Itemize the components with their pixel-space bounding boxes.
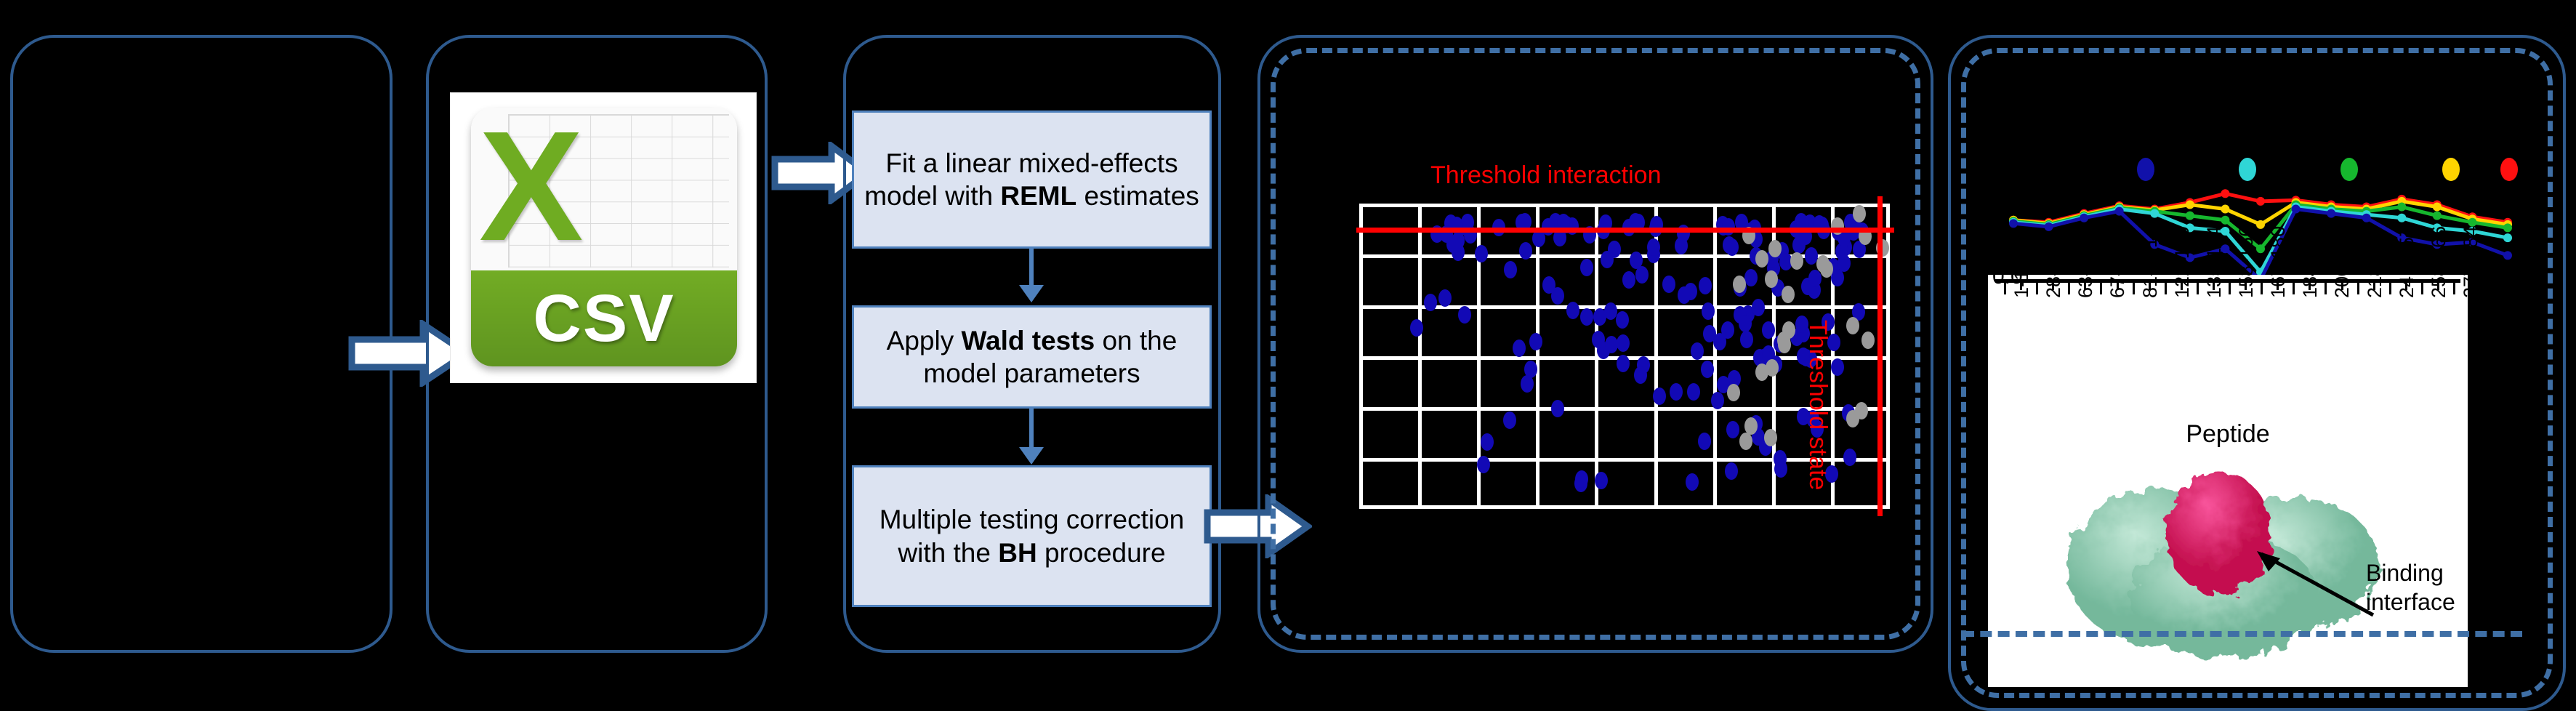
scatter-point [1580,308,1593,326]
scatter-point [1853,205,1866,222]
scatter-point [1711,392,1724,409]
scatter-point [1647,238,1660,256]
binding-interface-label: Binding interface [2366,558,2455,616]
legend-dot-10000-s [2500,158,2518,181]
step-reml-box[interactable]: Fit a linear mixed-effects model with RE… [852,111,1212,249]
excel-x-glyph: X [479,113,569,273]
structure-figure-card: 0.0 1-1528-4463-7367-7581-101122-129135-… [1988,275,2468,687]
scatter-point [1782,286,1795,303]
threshold-state-label: Threshold state [1803,320,1832,490]
scatter-point [1634,366,1647,384]
data-source-panel [10,35,393,653]
csv-band: CSV [471,270,737,366]
scatter-point [1513,340,1526,357]
line-marker [2186,200,2194,209]
peptide-minor-tick [2213,283,2215,290]
line-marker [2503,251,2512,260]
csv-file-icon[interactable]: X CSV [451,93,756,382]
line-marker [2292,205,2301,214]
connector-1-head [1019,285,1044,302]
scatter-point [1765,270,1778,288]
line-marker [2221,216,2229,225]
step-reml-text: Fit a linear mixed-effects model with RE… [860,147,1204,212]
scatter-point [1595,472,1608,489]
peptide-minor-tick [2117,283,2119,290]
peptide-tick [2100,283,2102,294]
peptide-minor-tick [2309,283,2311,290]
scatter-point [1727,384,1740,401]
peptide-minor-tick [2437,283,2439,290]
line-chart-legend [1992,149,2522,185]
csv-card: X CSV [471,108,737,366]
threshold-interaction-line [1356,228,1894,233]
scatter-point [1662,276,1675,293]
scatter-point [1831,358,1844,376]
peptide-tick [2165,283,2167,294]
line-marker [2115,207,2124,216]
scatter-point [1675,237,1688,254]
scatter-point [1438,289,1452,307]
connector-1 [1029,249,1034,286]
peptide-minor-tick [2181,283,2183,290]
scatter-point [1592,331,1605,348]
scatter-point [1816,255,1830,273]
scatter-point [1566,302,1579,319]
threshold-interaction-label: Threshold interaction [1430,161,1662,190]
line-marker [2503,233,2512,242]
scatter-point [1774,450,1787,467]
connector-2-head [1019,447,1044,465]
scatter-point [1740,331,1753,348]
line-marker [2433,203,2442,212]
line-marker [2080,214,2088,222]
peptide-minor-tick [2277,283,2279,290]
peptide-tick [2421,283,2423,294]
diagram-canvas: X CSV Fit a linear mixed-effects model w… [0,0,2576,687]
peptide-tick [2004,283,2006,294]
line-marker [2433,212,2442,220]
scatter-point [1475,245,1488,262]
peptide-tick [2133,283,2135,294]
peptide-tick-label: 277-284 [2460,226,2482,298]
peptide-tick-label: 63-73 [2074,248,2097,298]
line-marker [2009,219,2018,228]
structure-panel-dashed-bottom [1963,631,2522,637]
peptide-minor-tick [2084,283,2086,290]
line-marker [2362,214,2371,222]
peptide-tick [2357,283,2359,294]
scatter-point [1726,421,1739,438]
binding-label-line2: interface [2366,587,2455,616]
peptide-tick-label: 1-15 [2011,259,2033,298]
peptide-tick [2068,283,2070,294]
line-marker [2150,209,2159,218]
peptide-tick [2293,283,2295,294]
x-axis-label: Peptide [1988,420,2468,449]
line-marker [2221,205,2229,214]
scatter-point [1519,242,1532,260]
scatter-point [1575,470,1588,488]
scatter-point [1635,266,1649,284]
peptide-minor-tick [2405,283,2407,290]
legend-dot-100-s [2340,158,2358,181]
line-marker [2186,212,2194,220]
scatter-point [1698,433,1711,450]
scatter-point [1424,294,1437,311]
peptide-minor-tick [2052,283,2054,290]
binding-interface-arrow [2228,542,2380,622]
legend-dot-1000-s [2442,158,2460,181]
peptide-tick [2389,283,2391,294]
scatter-point [1410,319,1423,337]
peptide-minor-tick [2341,283,2343,290]
peptide-minor-tick [2373,283,2375,290]
scatter-point [1764,429,1777,446]
scatter-point [1630,252,1643,269]
legend-dot-0-s [2137,158,2154,181]
step-wald-text: Apply Wald tests on the model parameters [860,324,1204,390]
scatter-point [1458,306,1471,324]
step-bh-text: Multiple testing correctionwith the BH p… [880,503,1185,569]
scatter-point [1777,332,1790,349]
peptide-minor-tick [2149,283,2151,290]
scatter-point [1838,254,1851,272]
scatter-point [1617,355,1630,372]
scatter-point [1790,252,1803,270]
line-marker [2503,223,2512,232]
scatter-point [1744,269,1758,286]
binding-label-line1: Binding [2366,558,2455,587]
peptide-tick [2325,283,2327,294]
scatter-point [1755,363,1768,381]
scatter-point [1726,238,1739,256]
line-marker [2256,197,2265,206]
scatter-point [1739,315,1752,332]
scatter-point [1622,271,1635,289]
scatter-point [1616,311,1629,329]
scatter-point [1744,417,1758,435]
scatter-point [1687,383,1700,401]
step-wald-box[interactable]: Apply Wald tests on the model parameters [852,305,1212,409]
legend-dot-10-s [2239,158,2256,181]
peptide-tick [2036,283,2038,294]
scatter-point [1678,286,1691,304]
csv-band-label: CSV [533,281,675,357]
line-marker [2397,214,2406,222]
scatter-point [1855,402,1868,419]
peptide-tick [2229,283,2231,294]
threshold-state-line [1877,196,1883,516]
scatter-point [1725,462,1738,480]
scatter-point [1686,473,1699,491]
connector-2 [1029,409,1034,449]
peptide-minor-tick [2245,283,2247,290]
scatter-point [1521,375,1534,393]
scatter-gridline-h [1359,305,1890,309]
line-marker [2045,222,2053,231]
scatter-point [1762,321,1775,339]
scatter-point [1843,449,1856,466]
line-marker [2397,203,2406,212]
peptide-tick [2197,283,2199,294]
peptide-tick-label: 67-75 [2106,248,2129,298]
scatter-point [1452,232,1465,249]
scatter-point [1551,287,1564,305]
peptide-tick [2453,283,2455,294]
peptide-tick-label: 28-44 [2042,248,2065,298]
step-bh-box[interactable]: Multiple testing correctionwith the BH p… [852,465,1212,607]
line-marker [2221,189,2229,198]
peptide-tick [2261,283,2263,294]
line-marker [2327,209,2335,218]
scatter-point [1733,276,1746,293]
peptide-minor-tick [2020,283,2022,290]
